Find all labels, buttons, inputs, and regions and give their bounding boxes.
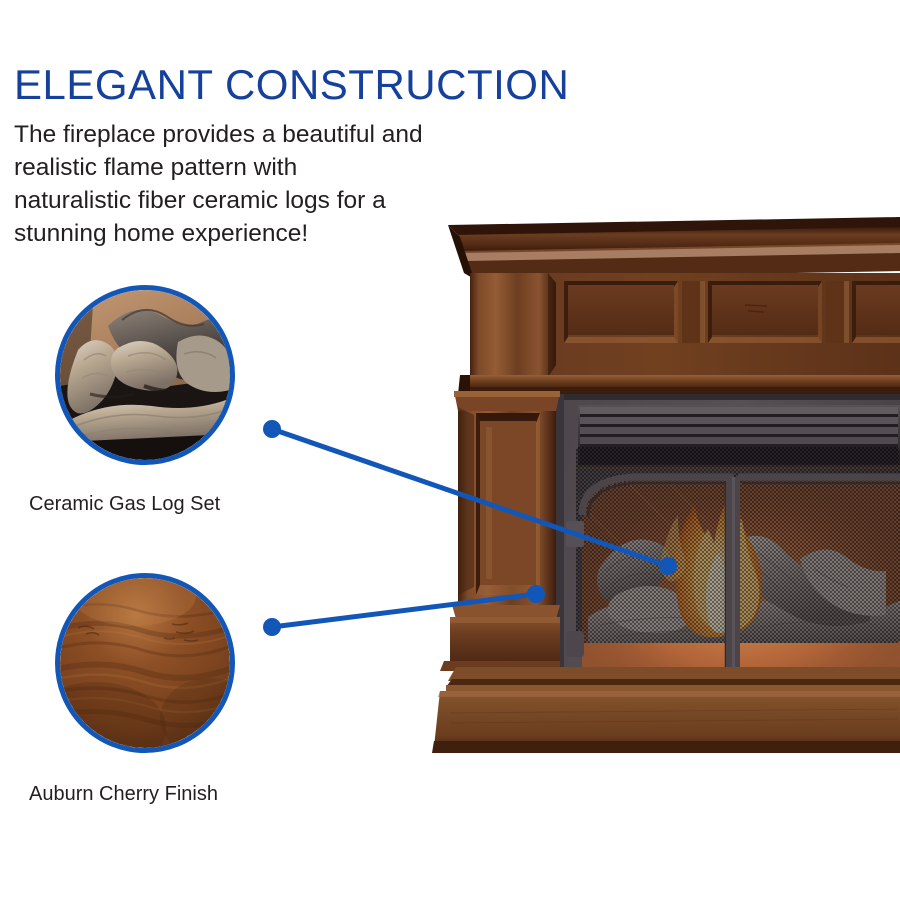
auburn-cherry-finish-photo: [60, 578, 230, 748]
hearth-base-plinth: [432, 667, 900, 753]
callout-circle-ceramic-gas-log-set[interactable]: [55, 285, 235, 465]
pilaster-column: [440, 391, 560, 671]
firebox-screen-doors: [566, 447, 900, 695]
infographic-canvas: ELEGANT CONSTRUCTION The fireplace provi…: [0, 0, 900, 900]
description-line-1: The fireplace provides a beautiful and: [14, 118, 554, 151]
frieze-panel: [852, 281, 900, 343]
callout-caption-ceramic-gas-log-set: Ceramic Gas Log Set: [29, 492, 220, 516]
callout-caption-auburn-cherry-finish: Auburn Cherry Finish: [29, 782, 218, 806]
frieze-panel: [708, 281, 822, 343]
crown-molding: [448, 217, 900, 279]
connector-dot-start: [263, 618, 281, 636]
frieze-section: [470, 273, 900, 385]
connector-dot-start: [263, 420, 281, 438]
ceramic-gas-log-set-photo: [60, 290, 230, 460]
frieze-panel: [564, 281, 678, 343]
description-line-2: realistic flame pattern with: [14, 151, 554, 184]
page-title: ELEGANT CONSTRUCTION: [14, 62, 569, 108]
fireplace-product-photo: [430, 215, 900, 830]
callout-circle-auburn-cherry-finish[interactable]: [55, 573, 235, 753]
description-line-3: naturalistic fiber ceramic logs for a: [14, 184, 554, 217]
